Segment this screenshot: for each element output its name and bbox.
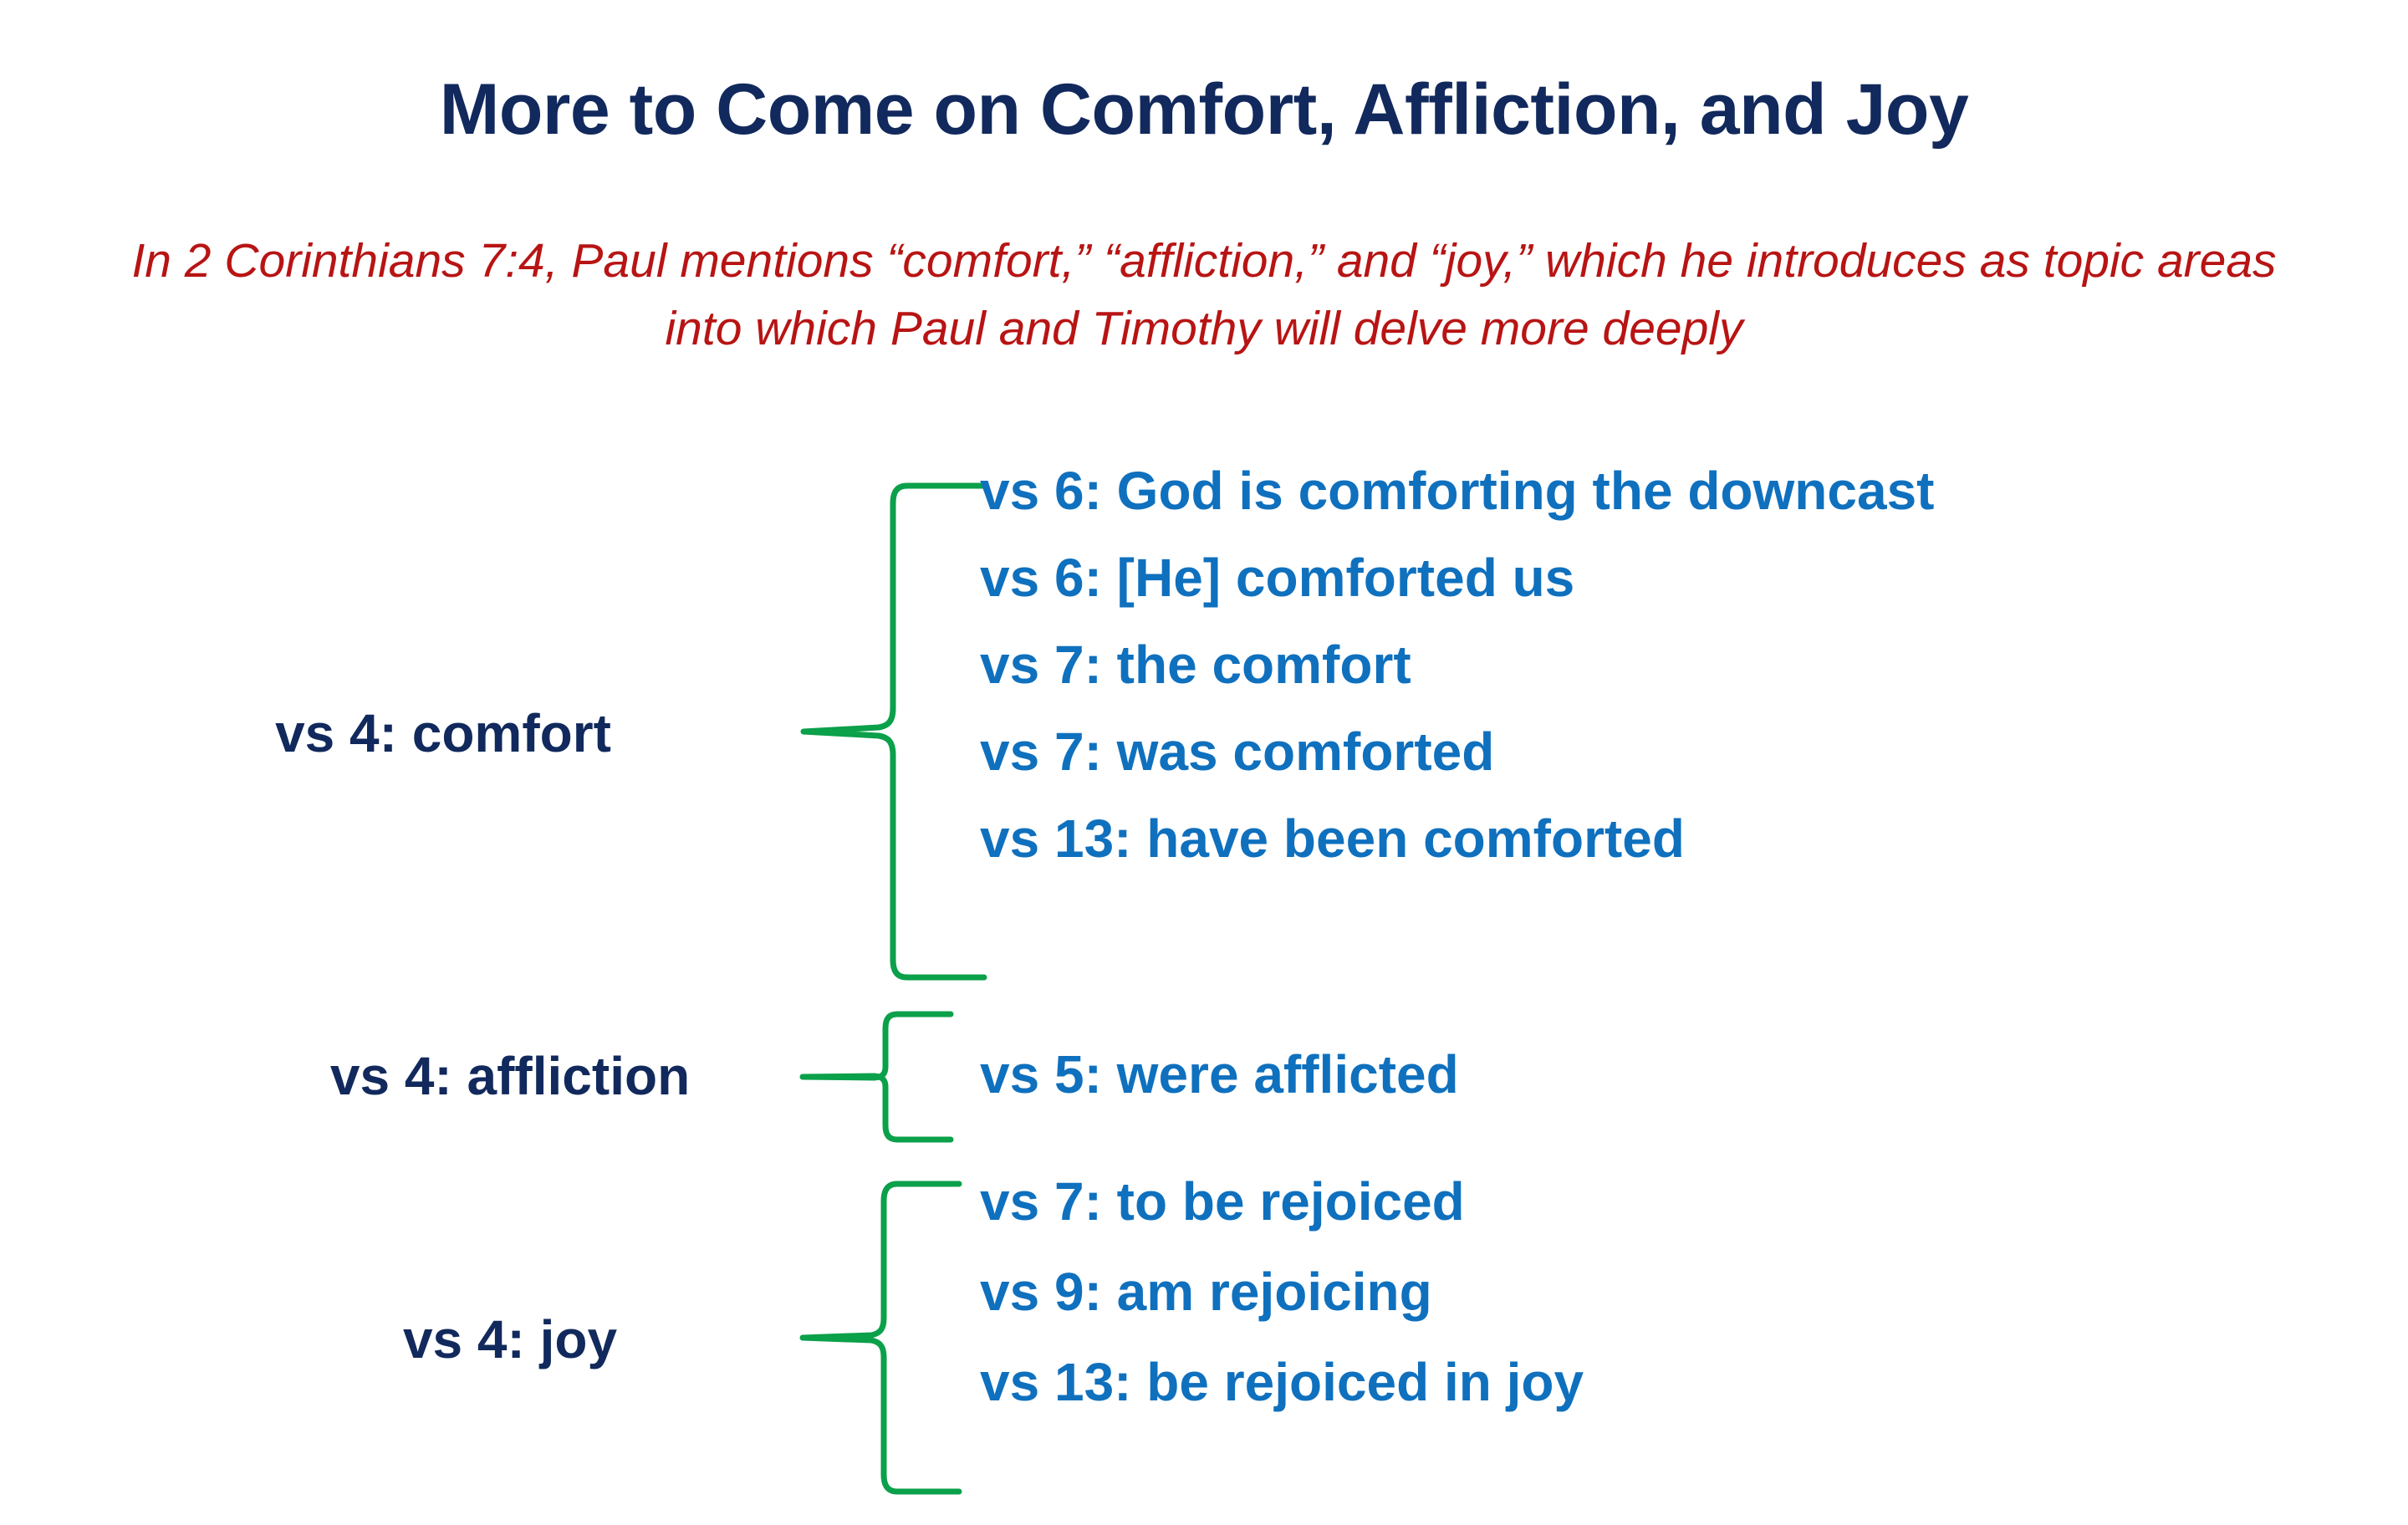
slide-canvas: More to Come on Comfort, Affliction, and… bbox=[0, 0, 2408, 1525]
items-affliction: vs 5: were afflicted bbox=[980, 1048, 1459, 1101]
category-label-comfort: vs 4: comfort bbox=[0, 706, 886, 760]
list-item: vs 7: was comforted bbox=[980, 725, 1934, 778]
list-item: vs 13: have been comforted bbox=[980, 812, 1934, 865]
group-joy: vs 4: joy vs 7: to be rejoiced vs 9: am … bbox=[0, 1175, 2408, 1509]
curly-brace-icon-joy bbox=[798, 1179, 957, 1497]
list-item: vs 7: to be rejoiced bbox=[980, 1175, 1584, 1228]
group-affliction: vs 4: affliction vs 5: were afflicted bbox=[0, 1003, 2408, 1162]
page-subtitle: In 2 Corinthians 7:4, Paul mentions “com… bbox=[125, 227, 2283, 363]
list-item: vs 7: the comfort bbox=[980, 638, 1934, 691]
list-item: vs 5: were afflicted bbox=[980, 1048, 1459, 1101]
page-title: More to Come on Comfort, Affliction, and… bbox=[0, 72, 2408, 147]
items-joy: vs 7: to be rejoiced vs 9: am rejoicing … bbox=[980, 1175, 1584, 1409]
list-item: vs 13: be rejoiced in joy bbox=[980, 1355, 1584, 1409]
curly-brace-icon-comfort bbox=[798, 481, 982, 982]
items-comfort: vs 6: God is comforting the downcast vs … bbox=[980, 464, 1934, 865]
group-comfort: vs 4: comfort vs 6: God is comforting th… bbox=[0, 464, 2408, 974]
list-item: vs 6: God is comforting the downcast bbox=[980, 464, 1934, 518]
curly-brace-icon-affliction bbox=[798, 1010, 949, 1144]
list-item: vs 6: [He] comforted us bbox=[980, 551, 1934, 604]
list-item: vs 9: am rejoicing bbox=[980, 1265, 1584, 1318]
